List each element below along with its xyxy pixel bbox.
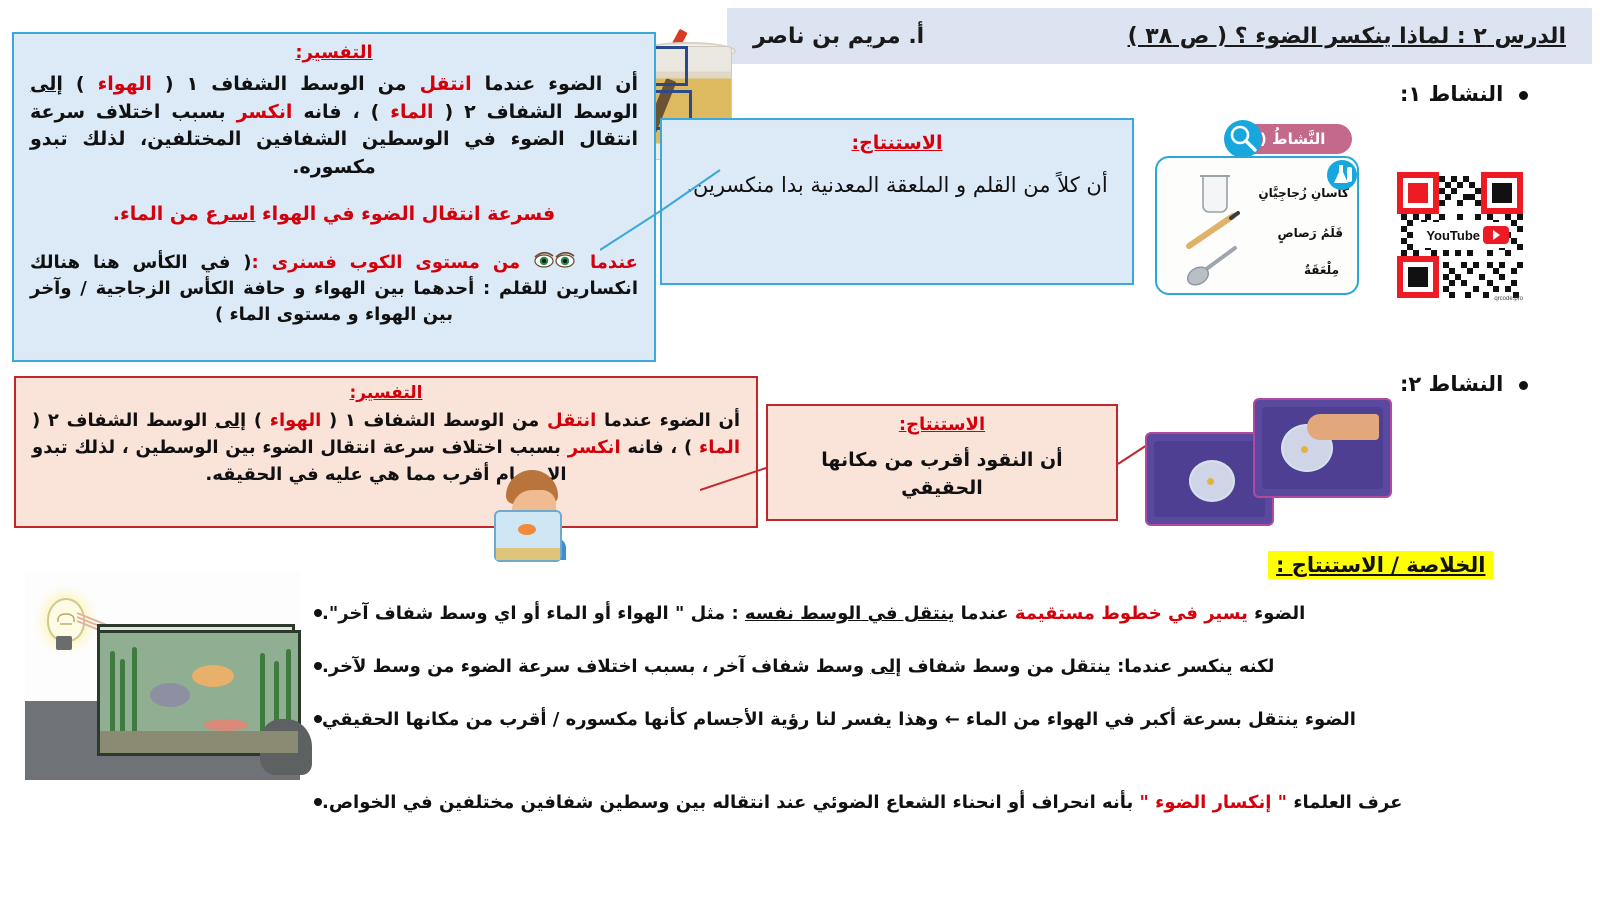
bullet-icon — [314, 798, 322, 806]
lesson-title: الدرس ٢ : لماذا ينكسر الضوء ؟ ( ص ٣٨ ) — [1128, 24, 1566, 49]
txt: وسط شفاف آخر ، بسبب اختلاف سرعة الضوء من… — [322, 656, 870, 677]
activity-2-label: النشاط ٢: — [1400, 372, 1528, 396]
txt: من الماء. — [113, 203, 206, 225]
activity-1-label: النشاط ١: — [1400, 82, 1528, 106]
bullet-icon — [1519, 91, 1528, 100]
qr-finder-top-left — [1397, 172, 1439, 214]
txt: ) — [63, 73, 98, 95]
summary-bullet-4-text: عرف العلماء " إنكسار الضوء " بأنه انحراف… — [322, 789, 1402, 816]
txt: الضوء — [1248, 603, 1305, 624]
txt-red: انكسر — [568, 437, 621, 458]
bullet-icon — [314, 715, 322, 723]
txt-underline: ينتقل في الوسط نفسه — [745, 603, 954, 624]
txt-underline: إلى — [215, 410, 246, 431]
fish-gray — [150, 683, 190, 707]
txt: ) ، فانه — [621, 437, 699, 458]
eye-level-note-blue: عندما من مستوى الكوب فسنرى :( في الكأس ه… — [30, 250, 638, 328]
txt-red: انتقل — [547, 410, 596, 431]
txt: أن الضوء عندما — [472, 73, 638, 95]
lab-flask-icon — [1327, 160, 1357, 190]
youtube-wordmark: YouTube — [1426, 228, 1480, 243]
txt-red: " إنكسار الضوء " — [1140, 792, 1288, 813]
txt: ) ، فانه — [292, 101, 390, 123]
bullet-icon — [314, 662, 322, 670]
txt: أن الضوء عندما — [596, 410, 740, 431]
txt: ) — [246, 410, 270, 431]
explanation-paragraph-blue: أن الضوء عندما انتقل من الوسط الشفاف ١ (… — [30, 71, 638, 181]
txt: من الوسط الشفاف ١ ( — [152, 73, 420, 95]
activity-1-label-text: النشاط ١: — [1400, 82, 1503, 106]
spoon-icon — [1183, 244, 1243, 288]
boy-looking-at-fishbowl-illustration — [492, 468, 578, 558]
txt: عرف العلماء — [1287, 792, 1402, 813]
qr-finder-top-right — [1481, 172, 1523, 214]
summary-bullet-1-text: الضوء يسير في خطوط مستقيمة عندما ينتقل ف… — [322, 600, 1305, 627]
conclusion-box-activity2: الاستنتاج: أن النقود أقرب من مكانها الحق… — [766, 404, 1118, 521]
conclusion-title-blue: الاستنتاج: — [680, 132, 1114, 154]
summary-bullet-3: الضوء ينتقل بسرعة أكبر في الهواء من الما… — [300, 706, 1592, 733]
bulb-base — [56, 636, 72, 650]
txt-underline: اسرع — [205, 203, 255, 225]
coin — [1301, 446, 1308, 453]
explanation-box-activity2: التفسير: أن الضوء عندما انتقل من الوسط ا… — [14, 376, 758, 528]
summary-bullet-2: لكنه ينكسر عندما: ينتقل من وسط شفاف إلى … — [300, 653, 1592, 680]
explanation-box-activity1: التفسير: أن الضوء عندما انتقل من الوسط ا… — [12, 32, 656, 362]
conclusion-box-activity1: الاستنتاج: أن كلاً من القلم و الملعقة ال… — [660, 118, 1134, 285]
activity-2-photo-after — [1253, 398, 1392, 498]
sand-floor — [100, 731, 298, 753]
play-icon — [1483, 226, 1509, 244]
txt-red: يسير في خطوط مستقيمة — [1015, 603, 1248, 624]
txt: بسبب اختلاف سرعة انتقال الضوء بين الوسطي… — [32, 437, 568, 485]
eyes-icon — [533, 250, 577, 276]
bullet-icon — [1519, 381, 1528, 390]
explanation-title-blue: التفسير: — [30, 42, 638, 63]
txt-red: من مستوى الكوب فسنرى : — [252, 252, 521, 273]
txt: : مثل " الهواء أو الماء أو اي وسط شفاف آ… — [322, 603, 745, 624]
fish-orange — [192, 665, 234, 687]
txt: الوسط الشفاف ٢ ( — [32, 410, 215, 431]
fish-icon — [518, 524, 536, 535]
bowl-sand — [496, 548, 560, 560]
fish-pink-bottom — [204, 719, 248, 731]
txt: لكنه ينكسر عندما: ينتقل من وسط شفاف — [901, 656, 1274, 677]
summary-bullet-4: عرف العلماء " إنكسار الضوء " بأنه انحراف… — [300, 789, 1592, 816]
explanation-paragraph-pink: أن الضوء عندما انتقل من الوسط الشفاف ١ (… — [32, 407, 740, 488]
txt-underline: إلى — [870, 656, 901, 677]
txt-red: انكسر — [237, 101, 293, 123]
txt-red: الماء — [699, 437, 740, 458]
speed-note-blue: فسرعة انتقال الضوء في الهواء اسرع من الم… — [30, 201, 638, 228]
explanation-title-pink: التفسير: — [32, 383, 740, 403]
summary-title: الخلاصة / الاستنتاج : — [1268, 551, 1493, 579]
summary-bullet-3-text: الضوء ينتقل بسرعة أكبر في الهواء من الما… — [322, 706, 1356, 733]
txt: عندما — [954, 603, 1014, 624]
fishbowl — [494, 510, 562, 562]
txt-red: الهواء — [98, 73, 152, 95]
txt-red: الهواء — [270, 410, 321, 431]
txt: الوسط الشفاف ٢ ( — [434, 101, 638, 123]
txt-red: انتقل — [420, 73, 472, 95]
qr-code[interactable]: YouTube qrcode.pro — [1395, 170, 1525, 300]
txt: من الوسط الشفاف ١ ( — [321, 410, 547, 431]
bullet-icon — [314, 609, 322, 617]
material-label-pencil: قَلَمُ رَصاصٍ — [1278, 226, 1344, 240]
summary-bullet-2-text: لكنه ينكسر عندما: ينتقل من وسط شفاف إلى … — [322, 653, 1274, 680]
qr-finder-bottom-left — [1397, 256, 1439, 298]
txt: فسرعة انتقال الضوء في الهواء — [255, 203, 555, 225]
seaweed — [110, 651, 115, 743]
material-label-spoon: مِلْعَقَةٌ — [1304, 263, 1339, 277]
txt-underline: إلى — [30, 73, 63, 95]
conclusion-text-pink: أن النقود أقرب من مكانها الحقيقي — [784, 447, 1100, 502]
summary-bullets: الضوء يسير في خطوط مستقيمة عندما ينتقل ف… — [300, 600, 1592, 842]
teacher-name: أ. مريم بن ناصر — [753, 24, 924, 49]
txt-red: الماء — [390, 101, 433, 123]
summary-bullet-1: الضوء يسير في خطوط مستقيمة عندما ينتقل ف… — [300, 600, 1592, 627]
txt-red: عندما — [590, 252, 638, 273]
hand — [1307, 414, 1379, 440]
magnifier-icon — [1224, 120, 1262, 158]
aquarium-light-rays-illustration — [25, 572, 300, 780]
youtube-logo: YouTube — [1413, 222, 1509, 248]
txt: بأنه انحراف أو انحناء الشعاع الضوئي عند … — [322, 792, 1140, 813]
beaker-icon — [1195, 172, 1235, 214]
aquarium-tank — [97, 630, 301, 756]
header-band: الدرس ٢ : لماذا ينكسر الضوء ؟ ( ص ٣٨ ) أ… — [727, 8, 1592, 64]
coin — [1207, 478, 1214, 485]
conclusion-title-pink: الاستنتاج: — [784, 414, 1100, 435]
conclusion-text-blue: أن كلاً من القلم و الملعقة المعدنية بدا … — [680, 170, 1114, 202]
activity-2-label-text: النشاط ٢: — [1400, 372, 1503, 396]
qr-caption: qrcode.pro — [1494, 296, 1523, 302]
